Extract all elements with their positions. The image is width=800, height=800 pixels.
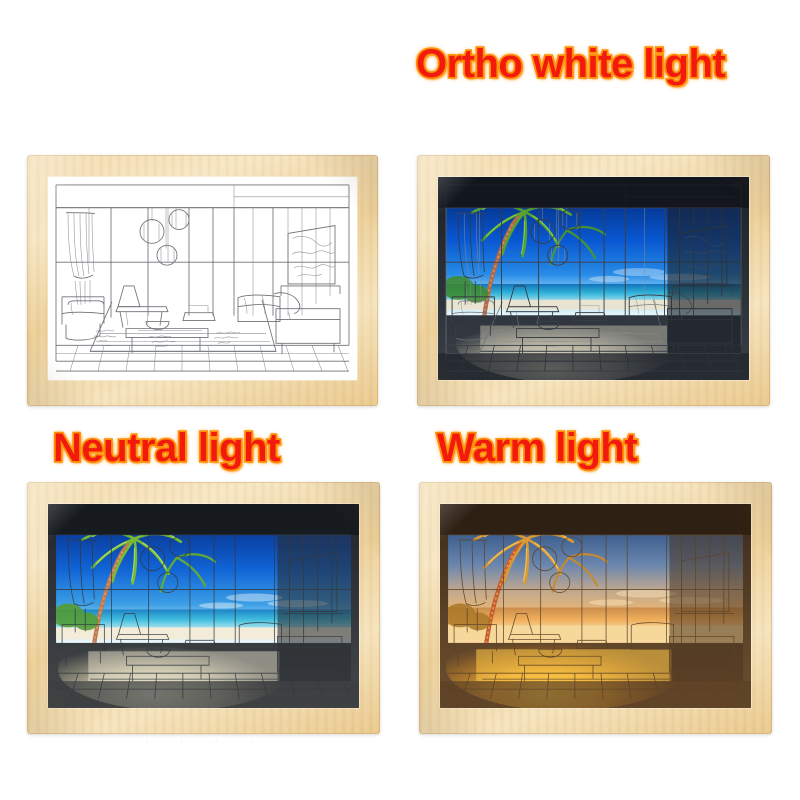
label-neutral-light: Neutral light (53, 428, 280, 468)
frame-mat (48, 504, 359, 708)
artwork-lit-neutral (48, 504, 359, 708)
frame-ortho-white-light[interactable] (417, 155, 770, 406)
frame-mat (440, 504, 751, 708)
frame-neutral-light[interactable] (27, 482, 380, 734)
frame-mat (48, 177, 357, 380)
watermark: · · · · (145, 735, 267, 747)
artwork-line-drawing (48, 177, 357, 380)
product-image-stage: Ortho white light Neutral light Warm lig… (0, 0, 800, 800)
artwork-lit-ortho-white (438, 177, 749, 380)
frame-mat (438, 177, 749, 380)
frame-off[interactable] (27, 155, 378, 406)
artwork-lit-warm (440, 504, 751, 708)
frame-warm-light[interactable] (419, 482, 772, 734)
label-warm-light: Warm light (437, 428, 637, 468)
label-ortho-white-light: Ortho white light (416, 44, 725, 84)
